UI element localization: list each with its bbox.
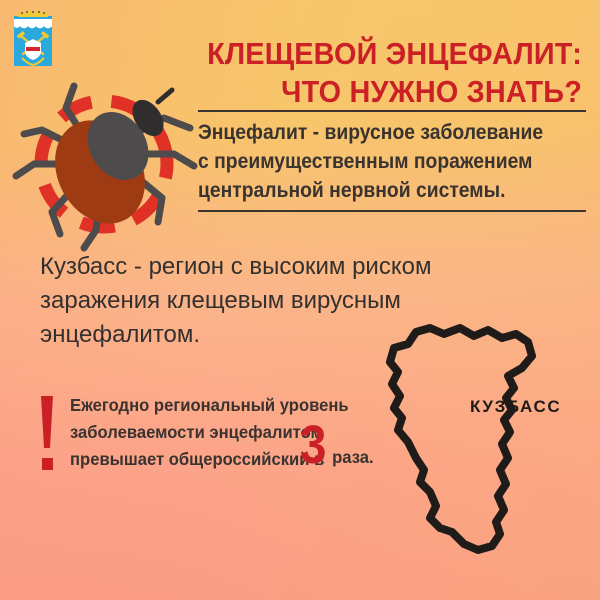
definition-block: Энцефалит - вирусное заболевание с преим…	[198, 110, 586, 212]
definition-rule-bottom	[198, 210, 586, 212]
kemerovo-coat-of-arms-icon	[10, 8, 56, 70]
statistic-callout: Ежегодно региональный уровень заболеваем…	[38, 392, 438, 477]
infographic-poster: КЛЕЩЕВОЙ ЭНЦЕФАЛИТ: ЧТО НУЖНО ЗНАТЬ?	[0, 0, 600, 600]
definition-rule-top	[198, 110, 586, 112]
statistic-multiplier: 3 раза.	[300, 418, 375, 472]
exclamation-mark-icon	[38, 392, 56, 477]
definition-text: Энцефалит - вирусное заболевание с преим…	[198, 119, 555, 206]
statistic-unit: раза.	[332, 447, 374, 468]
page-title: КЛЕЩЕВОЙ ЭНЦЕФАЛИТ: ЧТО НУЖНО ЗНАТЬ?	[152, 35, 582, 111]
statistic-number: 3	[300, 418, 326, 472]
map-label-kuzbass: КУЗБАСС	[470, 397, 561, 417]
tick-warning-icon	[8, 72, 204, 254]
